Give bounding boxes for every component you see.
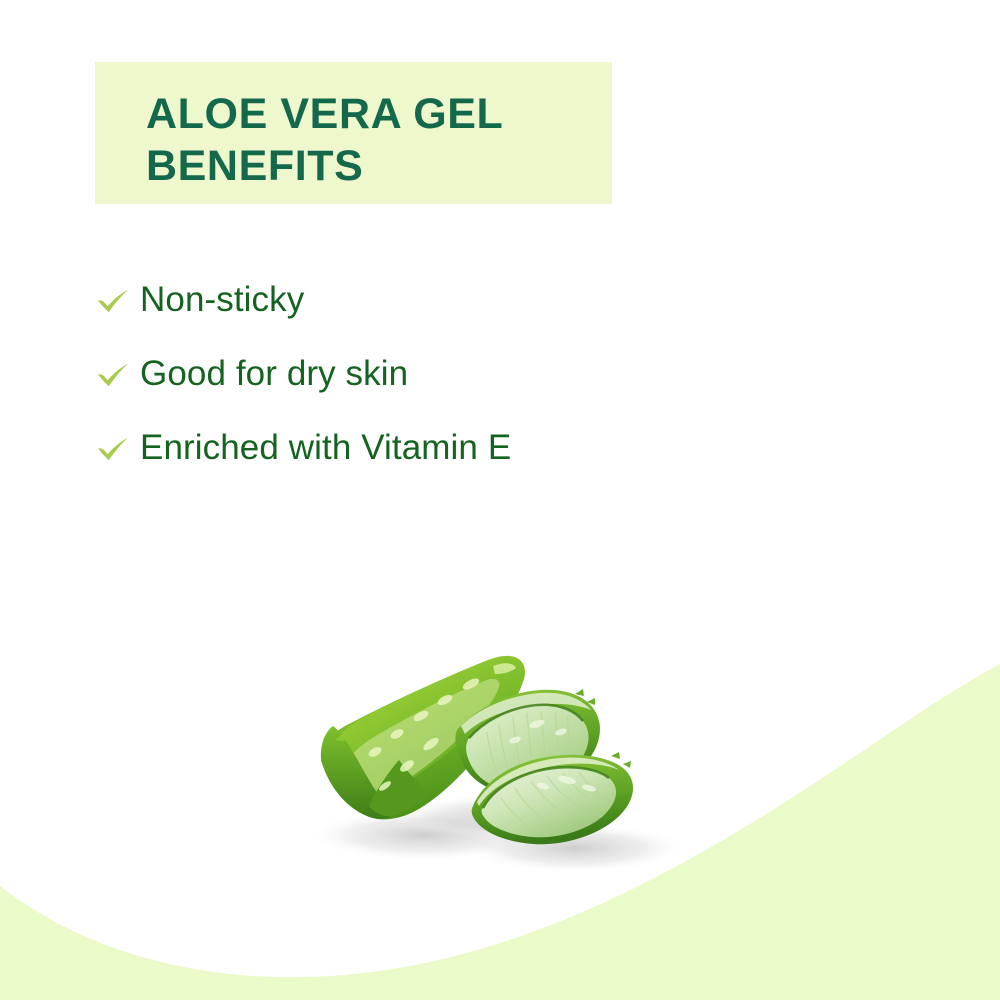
list-item: Enriched with Vitamin E: [96, 410, 736, 484]
aloe-vera-image: [275, 620, 695, 885]
benefits-list: Non-sticky Good for dry skin Enriched wi…: [96, 262, 736, 484]
product-benefits-card: Aloe Vera Gel Benefits Non-sticky Good f…: [0, 0, 1000, 1000]
check-icon: [96, 284, 140, 314]
check-icon: [96, 358, 140, 388]
list-item-label: Non-sticky: [140, 282, 304, 317]
list-item-label: Enriched with Vitamin E: [140, 430, 511, 465]
title-banner: Aloe Vera Gel Benefits: [95, 62, 612, 204]
list-item: Non-sticky: [96, 262, 736, 336]
check-icon: [96, 432, 140, 462]
list-item-label: Good for dry skin: [140, 356, 408, 391]
page-title: Aloe Vera Gel Benefits: [146, 88, 612, 193]
list-item: Good for dry skin: [96, 336, 736, 410]
